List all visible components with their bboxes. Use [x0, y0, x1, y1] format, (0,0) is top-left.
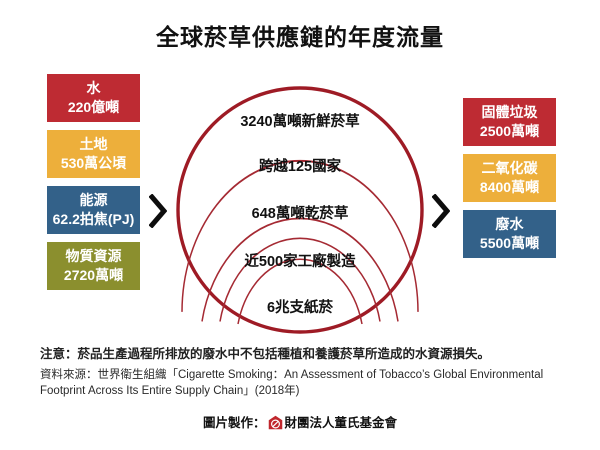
output-label-solid-waste: 固體垃圾 — [482, 103, 538, 122]
output-stat-box-co2: 二氧化碳 8400萬噸 — [463, 154, 556, 202]
output-value-co2: 8400萬噸 — [480, 178, 539, 197]
output-stat-box-solid-waste: 固體垃圾 2500萬噸 — [463, 98, 556, 146]
funnel-stage-label-2: 跨越125國家 — [172, 155, 428, 176]
input-label-material: 物質資源 — [66, 247, 122, 266]
no-smoking-house-logo-icon — [268, 415, 283, 430]
page-title: 全球菸草供應鏈的年度流量 — [0, 22, 600, 52]
input-value-material: 2720萬噸 — [64, 266, 123, 285]
input-label-water: 水 — [87, 79, 101, 98]
input-value-energy: 62.2拍焦(PJ) — [53, 210, 135, 229]
input-stat-box-land: 土地 530萬公頃 — [47, 130, 140, 178]
chevron-right-icon-left — [149, 194, 167, 228]
footnotes: 注意：菸品生產過程所排放的廢水中不包括種植和養護菸草所造成的水資源損失。 資料來… — [40, 345, 568, 399]
input-value-water: 220億噸 — [68, 98, 119, 117]
input-label-land: 土地 — [80, 135, 108, 154]
credit-prefix: 圖片製作： — [203, 412, 266, 431]
footnote-source: 資料來源：世界衛生組織「Cigarette Smoking：An Assessm… — [40, 367, 568, 399]
funnel-label-group: 3240萬噸新鮮菸草 跨越125國家 648萬噸乾菸草 近500家工廠製造 6兆… — [172, 84, 428, 336]
infographic-canvas: 全球菸草供應鏈的年度流量 水 220億噸 土地 530萬公頃 能源 62.2拍焦… — [0, 0, 600, 450]
outputs-column: 固體垃圾 2500萬噸 二氧化碳 8400萬噸 廢水 5500萬噸 — [463, 98, 556, 266]
output-value-solid-waste: 2500萬噸 — [480, 122, 539, 141]
output-value-wastewater: 5500萬噸 — [480, 234, 539, 253]
funnel-stage-label-3: 648萬噸乾菸草 — [172, 202, 428, 223]
input-label-energy: 能源 — [80, 191, 108, 210]
funnel-stage-label-5: 6兆支紙菸 — [172, 296, 428, 317]
credit-line: 圖片製作： 財團法人董氏基金會 — [0, 412, 600, 431]
funnel-stage-label-4: 近500家工廠製造 — [172, 250, 428, 271]
output-label-wastewater: 廢水 — [496, 215, 524, 234]
input-stat-box-material: 物質資源 2720萬噸 — [47, 242, 140, 290]
output-label-co2: 二氧化碳 — [482, 159, 538, 178]
footnote-note: 注意：菸品生產過程所排放的廢水中不包括種植和養護菸草所造成的水資源損失。 — [40, 345, 568, 363]
chevron-right-icon-right — [432, 194, 450, 228]
input-stat-box-water: 水 220億噸 — [47, 74, 140, 122]
credit-organization: 財團法人董氏基金會 — [285, 412, 398, 431]
input-value-land: 530萬公頃 — [61, 154, 126, 173]
funnel-stage-label-1: 3240萬噸新鮮菸草 — [172, 110, 428, 131]
inputs-column: 水 220億噸 土地 530萬公頃 能源 62.2拍焦(PJ) 物質資源 272… — [47, 74, 140, 298]
input-stat-box-energy: 能源 62.2拍焦(PJ) — [47, 186, 140, 234]
output-stat-box-wastewater: 廢水 5500萬噸 — [463, 210, 556, 258]
